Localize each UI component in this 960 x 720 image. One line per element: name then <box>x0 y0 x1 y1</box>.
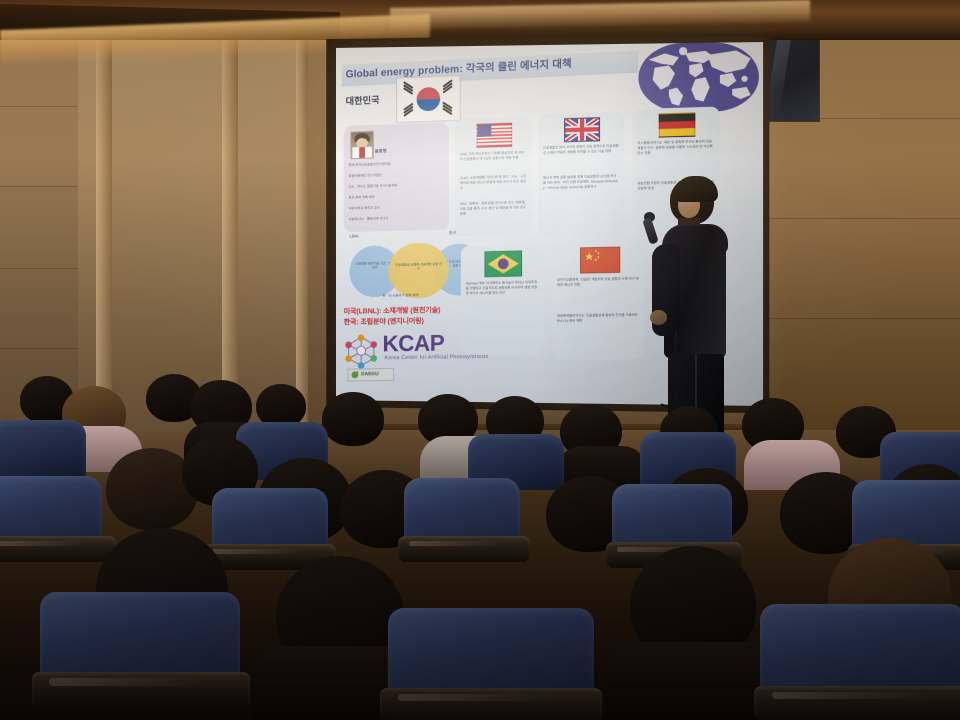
cn-flag-icon <box>580 247 620 274</box>
br-paragraph-0: Maringa 대학: 이산화탄소 흡수능이 뛰어난 미세조류를 선별하고 인공… <box>466 280 539 297</box>
venn-center-text: 인공광합성 상용화 기술개발 공동 연구 <box>394 262 443 272</box>
profile-line-5: 서강대 나노 · 물질과학 연구소 <box>349 215 444 223</box>
profile-line-4: 서강대학교 화학과 교수 <box>349 204 444 212</box>
venn-caption: 한 · 미 공동연구 협력 체계 <box>383 292 419 298</box>
armrest <box>0 536 116 562</box>
audience-head <box>322 392 384 446</box>
world-map-banner-icon <box>638 42 759 112</box>
profile-photo <box>351 131 374 159</box>
korea-label: 대한민국 <box>346 92 380 107</box>
profile-line-3: 한국 화학 학회 회원 <box>349 193 444 201</box>
cn-paragraph-0: 상하이교통대학: '인공잎' 개발하여 인공 광합성 소재 연구 및 태양 에너… <box>557 276 639 288</box>
country-panel-brazil: Maringa 대학: 이산화탄소 흡수능이 뛰어난 미세조류를 선별하고 인공… <box>461 244 544 355</box>
highlight-line-1: 한국: 조립분야 (엔지니어링) <box>344 316 424 327</box>
audience <box>0 360 960 720</box>
seat <box>0 420 86 480</box>
venn-left-logo-label: LBNL <box>350 233 360 238</box>
br-flag-icon <box>484 250 522 277</box>
us-flag-icon <box>477 123 513 148</box>
armrest <box>754 686 960 720</box>
armrest <box>398 536 530 562</box>
usa-paragraph-1: JCAP: 소재개발을 기반으로 한 연구 · 나노 · 구조제어와 태양 에너… <box>460 174 527 191</box>
profile-name: 윤경병 <box>375 148 387 154</box>
uk-paragraph-1: 에너지 변환 효율 향상을 위해 인공광합성 시스템 연구를 하는 영국 · 미… <box>543 174 619 192</box>
highlight-line-0: 미국(LBNL): 소재개발 (원천기술) <box>344 305 441 316</box>
korea-profile-panel: 윤경병 현재 한국인공광합성연구센터장 학술진흥재단 연구사업단 나노 · 바이… <box>344 122 449 232</box>
country-panel-uk: 인공광합성 분야 국가적 차원의 지원 정책으로 인공광합성 소재와 반응로 개… <box>538 111 624 236</box>
profile-line-0: 현재 한국인공광합성연구센터장 <box>349 160 444 168</box>
armrest <box>32 672 250 708</box>
profile-line-1: 학술진흥재단 연구사업단 <box>349 171 444 179</box>
armrest <box>380 688 602 720</box>
usa-paragraph-2: SBIC: 광화학 · 촉매 공동 연구소로 연구, 태양열, 이용 효율 증대… <box>460 200 527 217</box>
korea-flag-icon <box>396 75 461 123</box>
venn-center-circle: 인공광합성 상용화 기술개발 공동 연구 <box>388 242 449 299</box>
country-panel-china: 상하이교통대학: '인공잎' 개발하여 인공 광합성 소재 연구 및 태양 에너… <box>552 240 645 360</box>
usa-paragraph-0: DOE: 미국 에너지부의 기획을 중심으로 국 내외적 인공광합성 연구집단 … <box>460 150 527 162</box>
de-flag-icon <box>659 112 696 137</box>
kcap-acronym: KCAP <box>383 330 445 358</box>
uk-flag-icon <box>564 117 600 142</box>
cn-paragraph-1: 대련화학물리연구소: 인공광합성계 합성과 전자를 수송하는 탄소나노튜브 개발 <box>557 313 639 325</box>
lecture-hall-photo: Global energy problem: 각국의 클린 에너지 대책 대한민… <box>0 0 960 720</box>
profile-line-2: 나노 · 바이오 융합기술 국가기술위원 <box>349 182 444 190</box>
de-paragraph-0: 막스플랑크연구소, 재료 및 광촉매 연구소 중심의 인공광합성 연구, 광화학… <box>637 139 714 157</box>
presenter-hand <box>650 310 667 325</box>
country-panel-usa: DOE: 미국 에너지부의 기획을 중심으로 국 내외적 인공광합성 연구집단 … <box>455 116 532 236</box>
uk-paragraph-0: 인공광합성 분야 국가적 차원의 지원 정책으로 인공광합성 소재와 반응로 개… <box>543 144 619 157</box>
